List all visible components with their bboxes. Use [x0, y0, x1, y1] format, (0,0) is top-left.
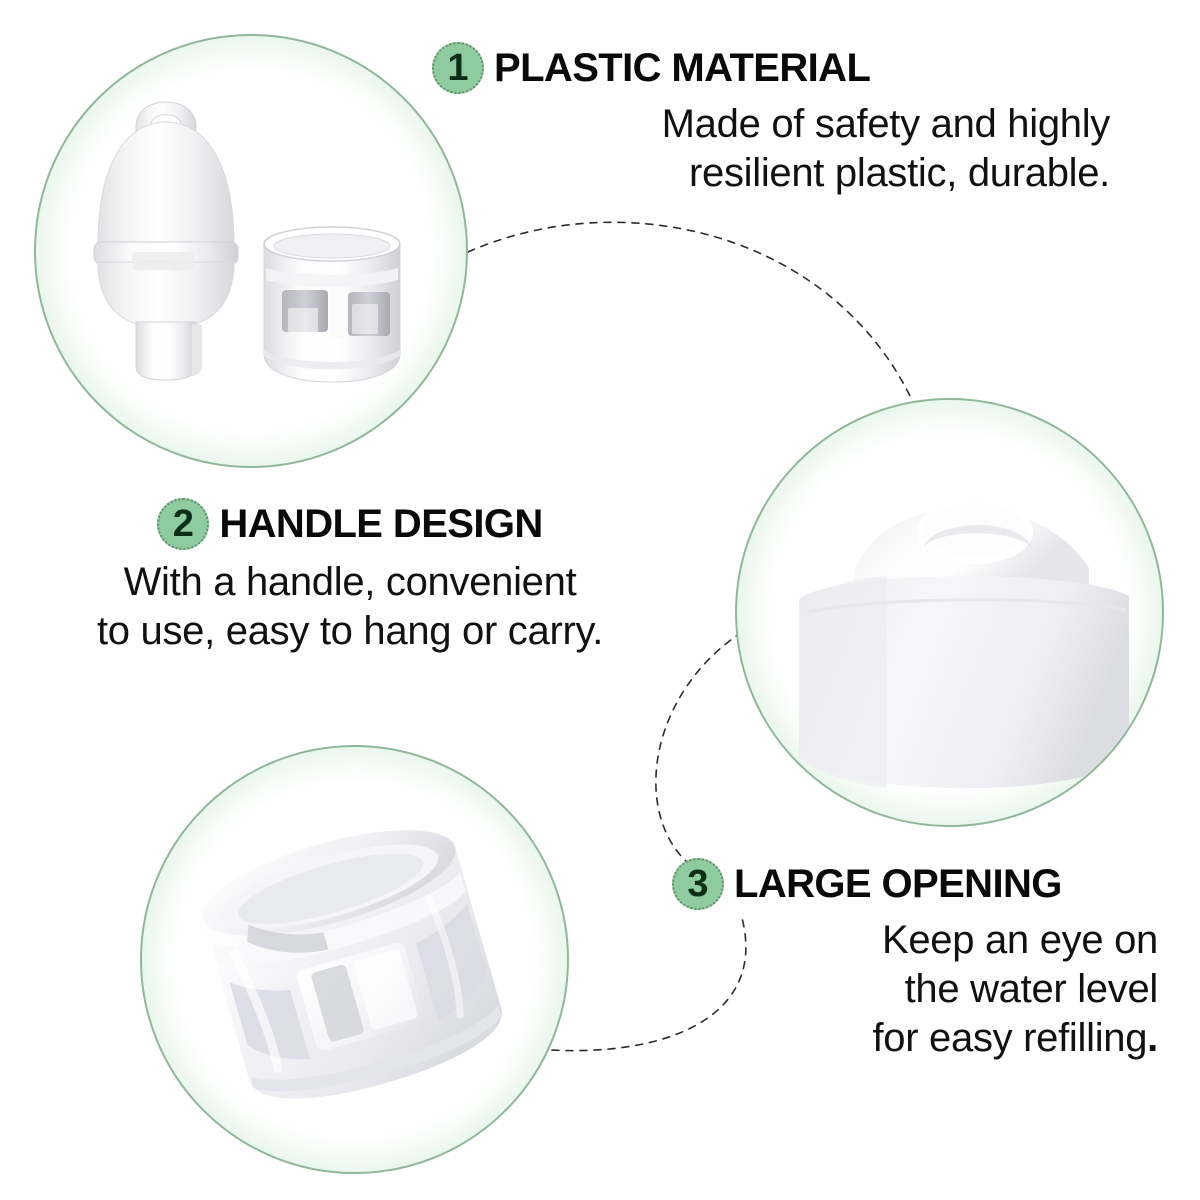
feature-3-description: Keep an eye on the water level for easy …	[672, 916, 1172, 1062]
feature-1-heading: 1 PLASTIC MATERIAL	[432, 42, 1132, 94]
feature-2-heading: 2 HANDLE DESIGN	[30, 498, 670, 550]
connector-photo2-to-badge3	[656, 632, 742, 872]
waterer-parts-illustration	[36, 36, 466, 466]
opening-closeup-illustration	[142, 747, 567, 1172]
infographic-canvas: 1 PLASTIC MATERIAL Made of safety and hi…	[0, 0, 1200, 1200]
feature-3-line-3-text: for easy refilling	[872, 1016, 1147, 1060]
feature-block-2: 2 HANDLE DESIGN With a handle, convenien…	[30, 498, 670, 656]
step-badge-2: 2	[157, 498, 209, 550]
step-badge-1: 1	[432, 42, 484, 94]
feature-1-line-2: resilient plastic, durable.	[432, 149, 1110, 198]
feature-1-title: PLASTIC MATERIAL	[494, 46, 870, 91]
opening-closeup-photo	[140, 745, 569, 1174]
feature-3-heading: 3 LARGE OPENING	[672, 858, 1172, 910]
feature-2-line-1: With a handle, convenient	[30, 558, 670, 607]
feature-2-line-2: to use, easy to hang or carry.	[30, 607, 670, 656]
step-badge-3: 3	[672, 858, 724, 910]
waterer-parts-photo	[34, 34, 468, 468]
feature-block-1: 1 PLASTIC MATERIAL Made of safety and hi…	[432, 42, 1132, 198]
handle-closeup-photo	[735, 398, 1164, 827]
connector-photo1-to-photo2	[468, 222, 912, 400]
feature-2-title: HANDLE DESIGN	[219, 502, 542, 547]
feature-3-title: LARGE OPENING	[734, 862, 1062, 907]
feature-1-line-1: Made of safety and highly	[432, 100, 1110, 149]
feature-block-3: 3 LARGE OPENING Keep an eye on the water…	[672, 858, 1172, 1062]
feature-1-description: Made of safety and highly resilient plas…	[432, 100, 1132, 198]
feature-3-line-2: the water level	[672, 965, 1158, 1014]
feature-3-line-1: Keep an eye on	[672, 916, 1158, 965]
feature-3-trailing-period: .	[1147, 1016, 1158, 1060]
handle-closeup-illustration	[737, 400, 1162, 825]
feature-3-line-3: for easy refilling.	[672, 1014, 1158, 1063]
feature-2-description: With a handle, convenient to use, easy t…	[30, 558, 670, 656]
